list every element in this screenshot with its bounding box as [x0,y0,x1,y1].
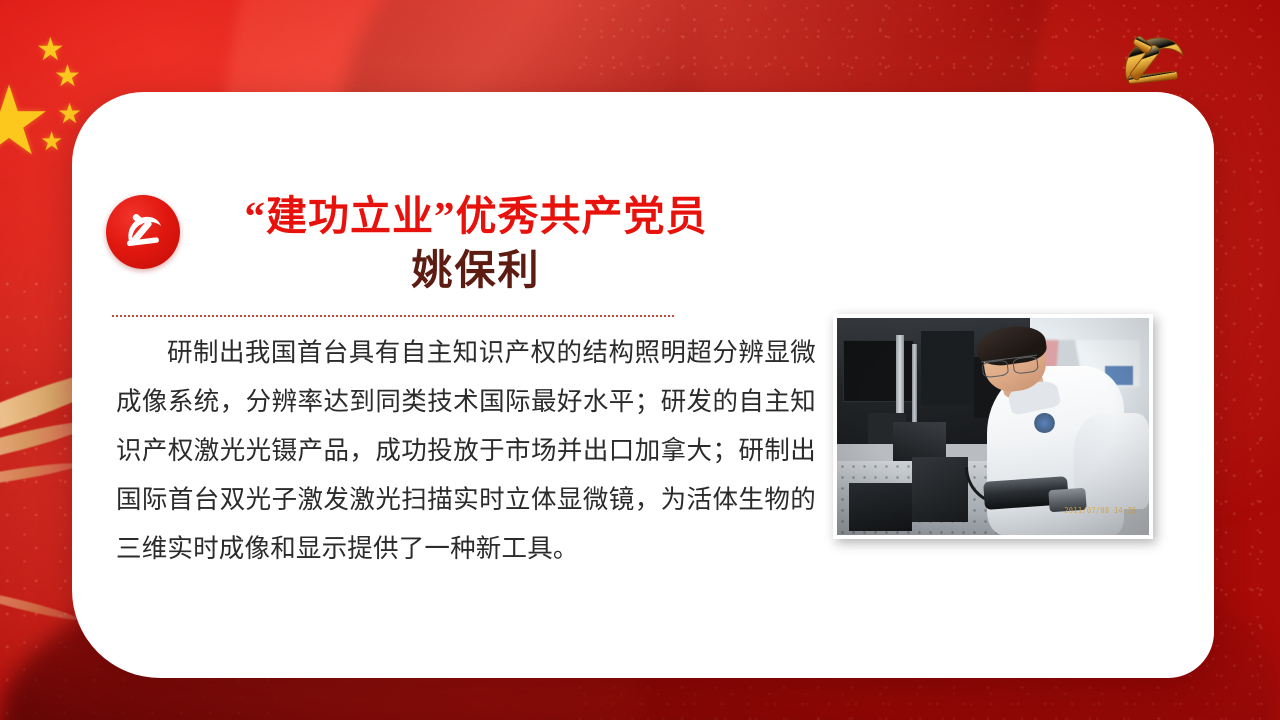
portrait-photo-frame: 2011/07/08 14:26 [833,314,1153,539]
person-name: 姚保利 [200,244,752,296]
hammer-sickle-icon [1108,26,1196,94]
flag-star-small-icon: ★ [57,100,82,128]
page-title: “建功立业”优秀共产党员 [200,190,752,242]
content-card: “建功立业”优秀共产党员 姚保利 研制出我国首台具有自主知识产权的结构照明超分辨… [72,92,1214,678]
title-divider [112,315,674,317]
body-paragraph: 研制出我国首台具有自主知识产权的结构照明超分辨显微成像系统，分辨率达到同类技术国… [116,329,816,574]
flag-star-small-icon: ★ [40,128,63,154]
portrait-photo: 2011/07/08 14:26 [837,318,1149,535]
party-emblem-badge-icon [106,195,180,269]
title-block: “建功立业”优秀共产党员 姚保利 [200,190,752,297]
photo-vignette [837,318,1149,535]
slide-root: ★ ★ ★ ★ ★ [0,0,1280,720]
flag-star-small-icon: ★ [54,62,81,92]
